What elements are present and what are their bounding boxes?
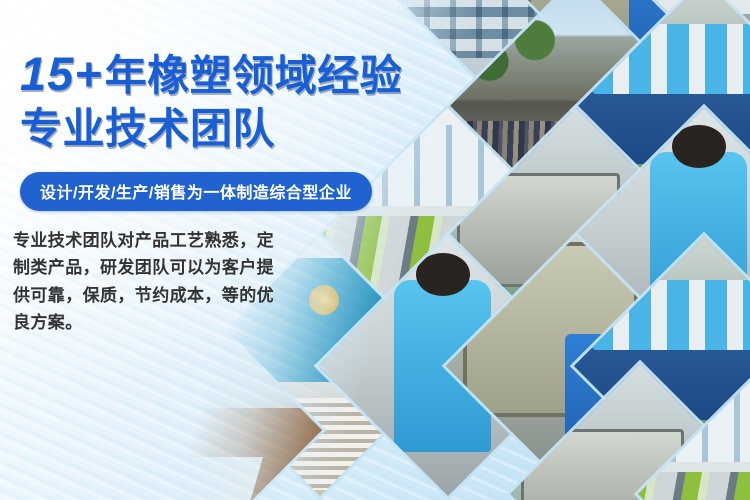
- body-copy: 专业技术团队对产品工艺熟悉，定制类产品，研发团队可以为客户提供可靠，保质，节约成…: [13, 227, 281, 337]
- tagline-pill: 设计/开发/生产/销售为一体制造综合型企业: [20, 172, 372, 211]
- body-paragraph: 专业技术团队对产品工艺熟悉，定制类产品，研发团队可以为客户提供可靠，保质，节约成…: [13, 227, 281, 337]
- headline-line-1-text: 年橡塑领域经验: [105, 52, 403, 99]
- text-panel: 15+年橡塑领域经验 专业技术团队 设计/开发/生产/销售为一体制造综合型企业 …: [0, 0, 430, 500]
- promotional-banner: 15+年橡塑领域经验 专业技术团队 设计/开发/生产/销售为一体制造综合型企业 …: [0, 0, 750, 500]
- headline-years-number: 15+: [20, 47, 105, 100]
- headline-block: 15+年橡塑领域经验 专业技术团队: [20, 48, 430, 152]
- headline-line-1: 15+年橡塑领域经验: [20, 48, 430, 101]
- headline-line-2: 专业技术团队: [20, 105, 430, 152]
